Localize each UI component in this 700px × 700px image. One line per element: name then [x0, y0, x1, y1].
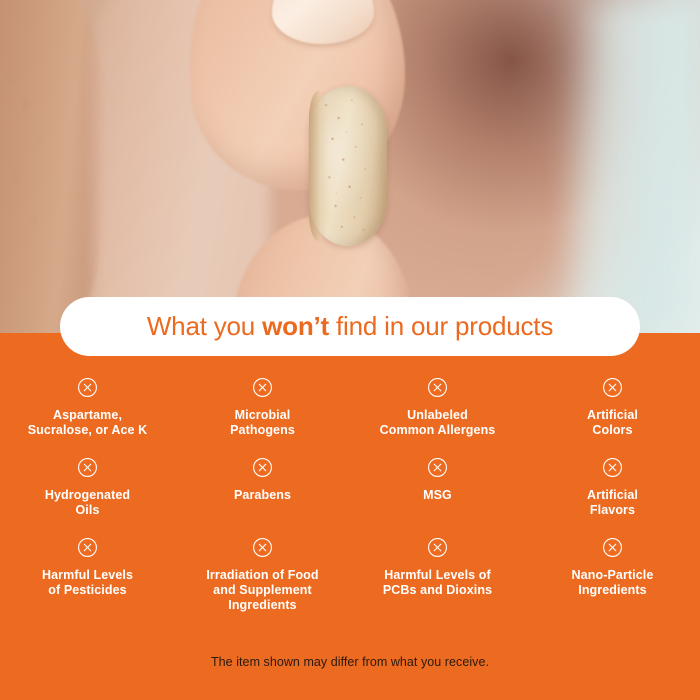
circle-x-icon	[77, 377, 98, 398]
photo-tablet-speckles	[309, 86, 387, 246]
page-title-emphasis: won’t	[262, 311, 329, 341]
grid-cell: Parabens	[175, 457, 350, 537]
circle-x-icon	[252, 537, 273, 558]
circle-x-icon	[427, 377, 448, 398]
grid-cell: UnlabeledCommon Allergens	[350, 377, 525, 457]
grid-cell-label: Parabens	[234, 488, 291, 503]
circle-x-icon	[602, 537, 623, 558]
grid-cell-label: Harmful Levelsof Pesticides	[42, 568, 133, 598]
grid-cell-label: Nano-ParticleIngredients	[572, 568, 654, 598]
grid-cell: MicrobialPathogens	[175, 377, 350, 457]
headline-pill: What you won’t find in our products	[60, 297, 640, 356]
circle-x-icon	[252, 457, 273, 478]
grid-cell: Aspartame,Sucralose, or Ace K	[0, 377, 175, 457]
circle-x-icon	[77, 457, 98, 478]
product-photo	[0, 0, 700, 333]
grid-cell-label: MicrobialPathogens	[230, 408, 295, 438]
grid-cell-label: Harmful Levels ofPCBs and Dioxins	[383, 568, 492, 598]
page-title: What you won’t find in our products	[147, 311, 553, 342]
grid-cell: Irradiation of Foodand SupplementIngredi…	[175, 537, 350, 617]
circle-x-icon	[602, 377, 623, 398]
grid-cell: HydrogenatedOils	[0, 457, 175, 537]
photo-blurred-finger-left	[0, 0, 108, 333]
disclaimer-text: The item shown may differ from what you …	[0, 655, 700, 669]
grid-cell-label: MSG	[423, 488, 452, 503]
grid-cell: MSG	[350, 457, 525, 537]
circle-x-icon	[77, 537, 98, 558]
page-title-part-2: find in our products	[329, 311, 553, 341]
grid-cell: ArtificialColors	[525, 377, 700, 457]
excluded-ingredients-grid: Aspartame,Sucralose, or Ace K MicrobialP…	[0, 377, 700, 617]
grid-cell-label: Irradiation of Foodand SupplementIngredi…	[206, 568, 318, 613]
photo-background-cool-panel	[570, 0, 700, 333]
circle-x-icon	[602, 457, 623, 478]
grid-cell: Harmful Levelsof Pesticides	[0, 537, 175, 617]
grid-cell: Nano-ParticleIngredients	[525, 537, 700, 617]
grid-cell-label: ArtificialColors	[587, 408, 638, 438]
grid-cell-label: Aspartame,Sucralose, or Ace K	[28, 408, 148, 438]
circle-x-icon	[427, 537, 448, 558]
photo-skin-texture	[0, 37, 66, 267]
circle-x-icon	[427, 457, 448, 478]
grid-cell: ArtificialFlavors	[525, 457, 700, 537]
grid-cell: Harmful Levels ofPCBs and Dioxins	[350, 537, 525, 617]
grid-cell-label: ArtificialFlavors	[587, 488, 638, 518]
grid-cell-label: HydrogenatedOils	[45, 488, 130, 518]
grid-cell-label: UnlabeledCommon Allergens	[380, 408, 496, 438]
page-title-part-1: What you	[147, 311, 262, 341]
circle-x-icon	[252, 377, 273, 398]
photo-supplement-tablet	[309, 86, 387, 246]
product-claims-infographic: What you won’t find in our products Aspa…	[0, 0, 700, 700]
